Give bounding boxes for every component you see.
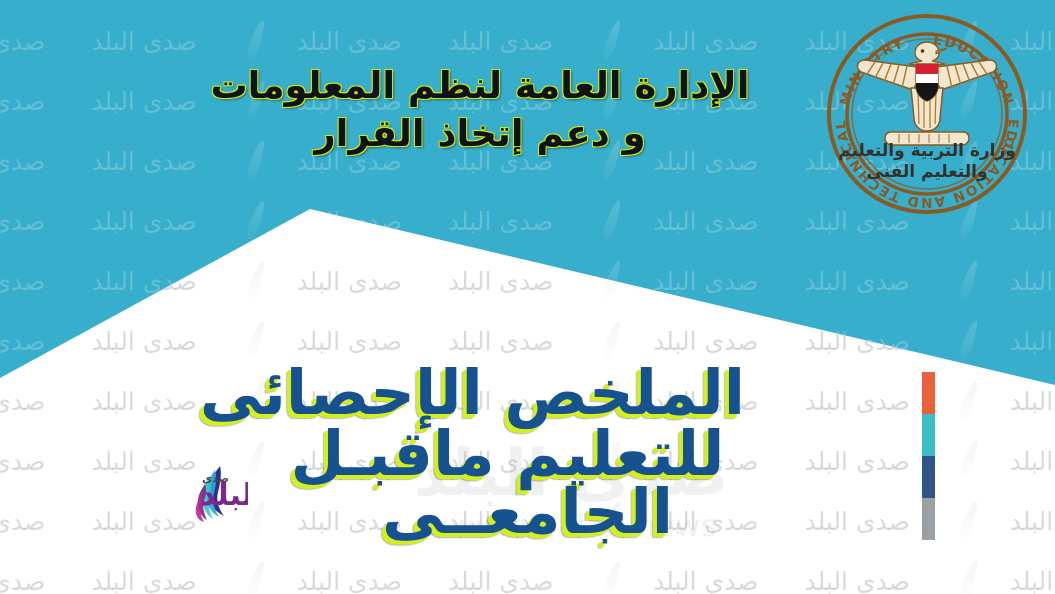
svg-text:صدى: صدى bbox=[202, 472, 229, 485]
watermark-flame-icon bbox=[599, 198, 607, 244]
svg-text:وزارة التربية والتعليم: وزارة التربية والتعليم bbox=[838, 141, 1016, 161]
watermark-text: صدى البلد bbox=[297, 27, 402, 56]
header-heading-line1: الإدارة العامة لنظم المعلومات bbox=[170, 62, 790, 110]
watermark-flame-icon bbox=[243, 198, 251, 244]
svg-text:والتعليم الفنى: والتعليم الفنى bbox=[866, 162, 987, 182]
watermark-text: صدى البلد bbox=[0, 147, 45, 176]
watermark-text: صدى البلد bbox=[804, 267, 909, 296]
watermark-flame-icon bbox=[956, 258, 964, 304]
watermark-text: صدى البلد bbox=[0, 267, 45, 296]
watermark-text: صدى البلد bbox=[448, 27, 553, 56]
color-bar-segment-navy bbox=[922, 456, 935, 498]
watermark-flame-icon bbox=[243, 18, 251, 64]
poster-canvas: صدى البلدصدى البلدصدى البلدصدى البلدصدى … bbox=[0, 0, 1055, 594]
watermark-text: صدى البلد bbox=[91, 27, 196, 56]
watermark-flame-icon bbox=[956, 258, 964, 304]
color-bar-segment-teal bbox=[922, 414, 935, 456]
accent-color-bar bbox=[922, 372, 935, 540]
ministry-seal-logo: EDUCATION AND TECHNICAL MINISTRY EDUCATI… bbox=[817, 4, 1037, 222]
watermark-flame-icon bbox=[956, 318, 964, 364]
watermark-flame-icon bbox=[956, 318, 964, 364]
watermark-text: صدى البلد bbox=[0, 327, 45, 356]
watermark-text: صدى البلد bbox=[0, 207, 45, 236]
watermark-text: صدى البلد bbox=[1010, 267, 1055, 296]
watermark-text: صدى البلد bbox=[0, 87, 45, 116]
watermark-text: صدى البلد bbox=[91, 207, 196, 236]
watermark-text: صدى البلد bbox=[1010, 267, 1055, 296]
header-heading-line2: و دعم إتخاذ القرار bbox=[170, 110, 790, 158]
watermark-text: صدى البلد bbox=[1010, 327, 1055, 356]
watermark-text: صدى البلد bbox=[653, 207, 758, 236]
watermark-text: صدى البلد bbox=[804, 267, 909, 296]
watermark-text: صدى البلد bbox=[653, 267, 758, 296]
color-bar-segment-gray bbox=[922, 498, 935, 540]
watermark-text: صدى البلد bbox=[448, 207, 553, 236]
watermark-text: صدى البلد bbox=[653, 267, 758, 296]
watermark-text: صدى البلد bbox=[0, 267, 45, 296]
watermark-text: صدى البلد bbox=[0, 27, 45, 56]
sada-el-balad-logo: البلد صدى bbox=[128, 462, 248, 524]
watermark-flame-icon bbox=[599, 18, 607, 64]
header-heading: الإدارة العامة لنظم المعلومات و دعم إتخا… bbox=[170, 62, 790, 158]
color-bar-segment-orange bbox=[922, 372, 935, 414]
watermark-text: صدى البلد bbox=[653, 27, 758, 56]
watermark-text: صدى البلد bbox=[1010, 327, 1055, 356]
watermark-text: صدى البلد bbox=[0, 327, 45, 356]
